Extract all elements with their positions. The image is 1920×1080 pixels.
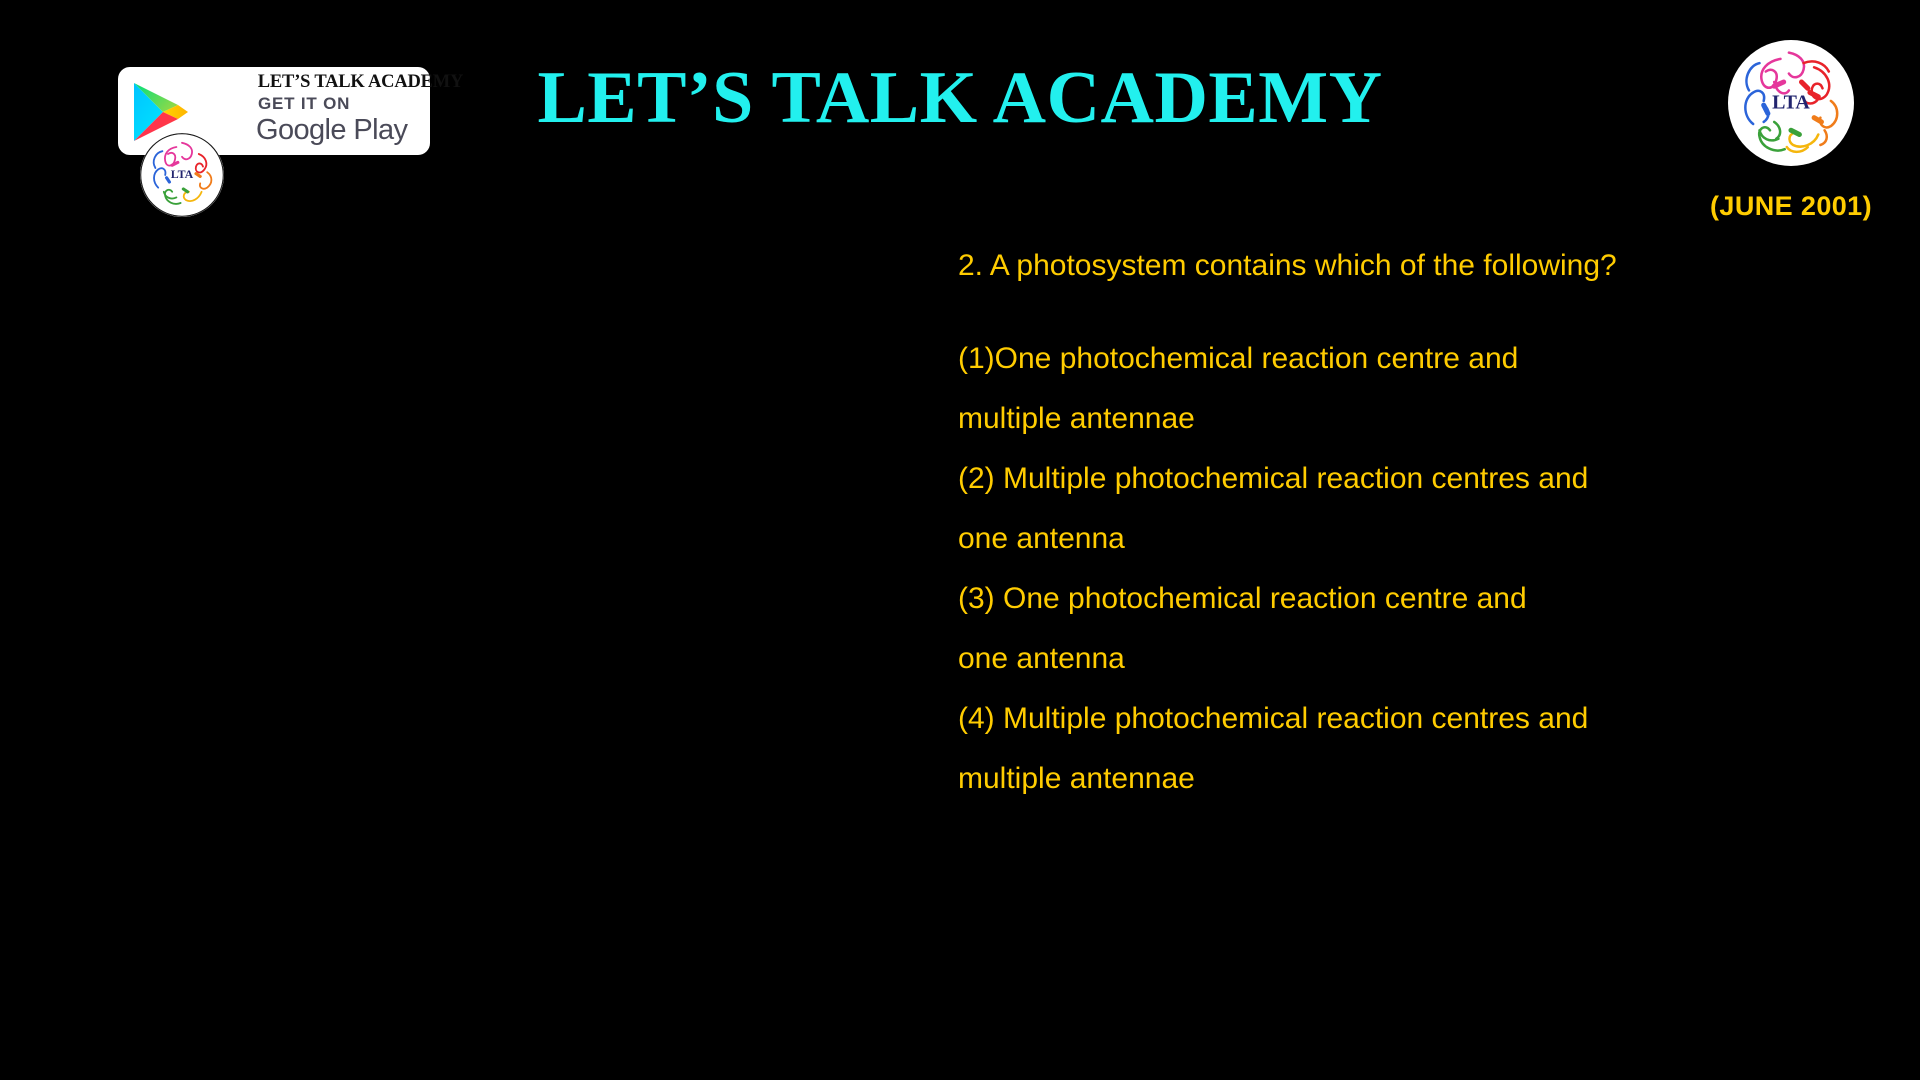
option-1-line-1[interactable]: (1)One photochemical reaction centre and [958,329,1858,389]
lta-protein-ribbon-icon: LTA [140,133,224,217]
options-list: (1)One photochemical reaction centre and… [958,329,1858,809]
option-3-line-2[interactable]: one antenna [958,629,1858,689]
page-title: LET’S TALK ACADEMY [0,55,1920,141]
question-stem: 2. A photosystem contains which of the f… [958,245,1858,287]
exam-session-badge: (JUNE 2001) [1710,190,1872,222]
option-2-line-1[interactable]: (2) Multiple photochemical reaction cent… [958,449,1858,509]
option-1-line-2[interactable]: multiple antennae [958,389,1858,449]
option-2-line-2[interactable]: one antenna [958,509,1858,569]
option-4-line-2[interactable]: multiple antennae [958,749,1858,809]
slide-root: { "slide": { "background_color": "#00000… [0,0,1920,1080]
lta-monogram: LTA [171,167,194,181]
question-block: 2. A photosystem contains which of the f… [958,245,1858,809]
option-4-line-1[interactable]: (4) Multiple photochemical reaction cent… [958,689,1858,749]
lta-logo-left: LTA [140,133,224,217]
option-3-line-1[interactable]: (3) One photochemical reaction centre an… [958,569,1858,629]
